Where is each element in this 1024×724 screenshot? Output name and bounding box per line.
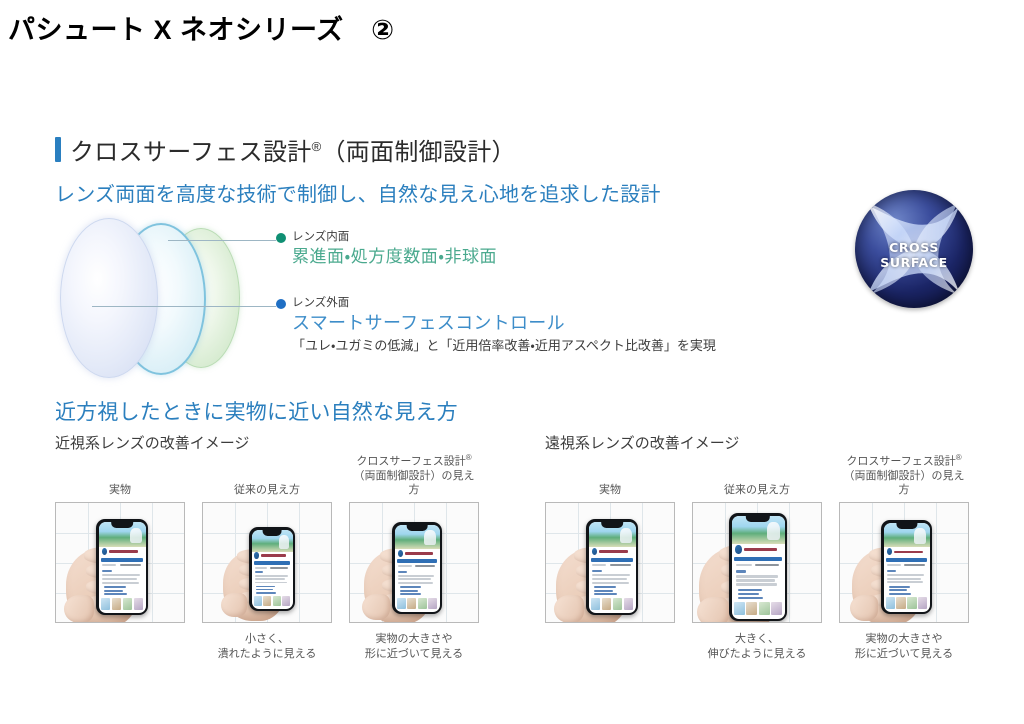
column-hyperopia-real: 実物	[545, 467, 675, 664]
image-panel	[692, 502, 822, 623]
column-caption: クロスサーフェス設計® （両面制御設計）の見え方	[349, 467, 479, 497]
hand-holding-phone-photo	[350, 503, 478, 622]
lens-label-inner-small: レンズ内面	[292, 230, 497, 245]
column-caption-line1: 実物	[109, 483, 131, 497]
column-hyperopia-conventional: 従来の見え方	[692, 467, 822, 664]
lens-layer-front-lavender	[60, 218, 158, 378]
hand-holding-phone-photo	[56, 503, 184, 622]
bullet-dot-blue-icon	[276, 299, 286, 309]
column-caption: 従来の見え方	[724, 467, 790, 497]
lens-label-outer: レンズ外面 スマートサーフェスコントロール 「ユレ・ユガミの低減」と「近用倍率改…	[276, 296, 716, 355]
lens-label-inner: レンズ内面 累進面・処方度数面・非球面	[276, 230, 497, 269]
lens-label-inner-big: 累進面・処方度数面・非球面	[292, 245, 497, 269]
image-panel	[545, 502, 675, 623]
cross-surface-heading-suffix: （両面制御設計）	[321, 139, 515, 166]
group-hyperopia-columns: 実物	[545, 467, 969, 664]
column-caption-line2: （両面制御設計）の見え方	[349, 469, 479, 497]
image-panel	[349, 502, 479, 623]
lens-label-outer-big: スマートサーフェスコントロール	[292, 311, 716, 336]
column-caption-line1: 実物	[599, 483, 621, 497]
bullet-dot-green-icon	[276, 233, 286, 243]
leader-line-inner	[168, 240, 276, 241]
registered-mark-icon: ®	[312, 139, 322, 154]
leader-line-outer	[92, 306, 276, 307]
group-myopia: 近視系レンズの改善イメージ 実物	[55, 432, 479, 664]
column-myopia-crosssurface: クロスサーフェス設計® （両面制御設計）の見え方	[349, 467, 479, 664]
column-myopia-real: 実物	[55, 467, 185, 664]
column-caption: 従来の見え方	[234, 467, 300, 497]
image-panel	[202, 502, 332, 623]
registered-mark-icon: ®	[956, 453, 962, 462]
hand-holding-phone-photo	[840, 503, 968, 622]
column-footer: 実物の大きさや 形に近づいて見える	[365, 632, 463, 664]
near-vision-heading: 近方視したときに実物に近い自然な見え方	[55, 396, 458, 426]
lens-illustration	[58, 218, 273, 378]
column-caption-main: クロスサーフェス設計	[356, 456, 465, 468]
accent-bar-icon	[55, 137, 61, 162]
image-panel	[839, 502, 969, 623]
slide-page: パシュート X ネオシリーズ ② クロスサーフェス設計®（両面制御設計） レンズ…	[0, 0, 1024, 724]
hand-holding-phone-photo	[546, 503, 674, 622]
column-caption-main: クロスサーフェス設計	[846, 456, 955, 468]
column-caption-line1: クロスサーフェス設計®	[839, 451, 969, 469]
registered-mark-icon: ®	[466, 453, 472, 462]
cross-surface-logo-text: CROSS SURFACE	[855, 240, 973, 270]
group-hyperopia: 遠視系レンズの改善イメージ 実物	[545, 432, 969, 664]
hand-holding-phone-photo	[203, 503, 331, 622]
cross-surface-heading-main: クロスサーフェス設計	[70, 139, 312, 166]
column-footer: 小さく、 潰れたように見える	[218, 632, 317, 664]
column-footer: 大きく、 伸びたように見える	[708, 632, 807, 664]
cross-surface-logo-badge: CROSS SURFACE	[855, 190, 973, 308]
column-caption-line1: 従来の見え方	[724, 483, 790, 497]
group-myopia-columns: 実物	[55, 467, 479, 664]
column-hyperopia-crosssurface: クロスサーフェス設計® （両面制御設計）の見え方	[839, 467, 969, 664]
cross-surface-heading-text: クロスサーフェス設計®（両面制御設計）	[70, 132, 516, 167]
column-footer: 実物の大きさや 形に近づいて見える	[855, 632, 953, 664]
column-caption-line2: （両面制御設計）の見え方	[839, 469, 969, 497]
lens-label-outer-note: 「ユレ・ユガミの低減」と「近用倍率改善・近用アスペクト比改善」を実現	[292, 336, 716, 355]
hand-holding-phone-photo	[693, 503, 821, 622]
group-hyperopia-title: 遠視系レンズの改善イメージ	[545, 432, 969, 453]
column-caption-line1: 従来の見え方	[234, 483, 300, 497]
column-caption: 実物	[599, 467, 621, 497]
cross-surface-subheading: レンズ両面を高度な技術で制御し、自然な見え心地を追求した設計	[55, 178, 661, 207]
image-panel	[55, 502, 185, 623]
column-myopia-conventional: 従来の見え方	[202, 467, 332, 664]
column-caption: クロスサーフェス設計® （両面制御設計）の見え方	[839, 467, 969, 497]
group-myopia-title: 近視系レンズの改善イメージ	[55, 432, 479, 453]
cross-surface-heading: クロスサーフェス設計®（両面制御設計）	[55, 132, 516, 167]
column-caption-line1: クロスサーフェス設計®	[349, 451, 479, 469]
column-caption: 実物	[109, 467, 131, 497]
lens-label-outer-small: レンズ外面	[292, 296, 716, 311]
page-title: パシュート X ネオシリーズ ②	[8, 8, 395, 47]
